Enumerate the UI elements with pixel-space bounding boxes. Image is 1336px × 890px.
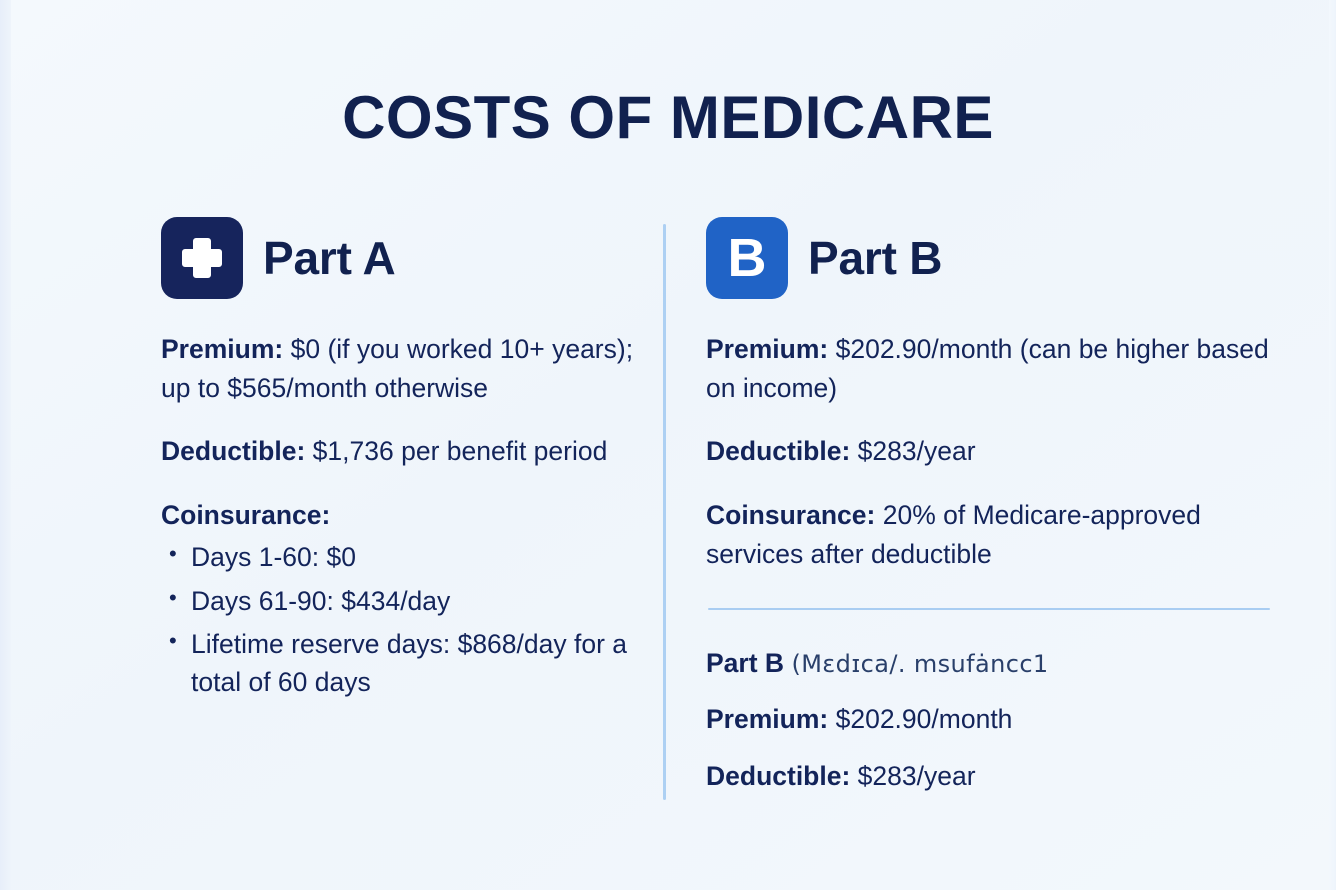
list-item: Days 1-60: $0 <box>161 539 639 577</box>
part-b-sub-deductible-label: Deductible: <box>706 761 850 791</box>
part-b-badge-letter: B <box>728 231 767 285</box>
columns-container: Part A Premium: $0 (if you worked 10+ ye… <box>0 212 1336 812</box>
part-b-sub-title-label: Part B <box>706 648 784 678</box>
part-b-column: B Part B Premium: $202.90/month (can be … <box>706 212 1272 813</box>
part-b-premium: Premium: $202.90/month (can be higher ba… <box>706 330 1272 408</box>
part-b-premium-label: Premium: <box>706 334 828 364</box>
horizontal-divider <box>708 608 1270 610</box>
part-a-deductible-label: Deductible: <box>161 436 305 466</box>
part-b-coinsurance-label: Coinsurance: <box>706 500 875 530</box>
part-b-sub-deductible-value: $283/year <box>858 761 976 791</box>
part-a-title: Part A <box>263 235 396 281</box>
letter-b-icon: B <box>706 217 788 299</box>
part-b-title: Part B <box>808 235 942 281</box>
list-item: Lifetime reserve days: $868/day for a to… <box>161 626 639 701</box>
part-a-coinsurance-label: Coinsurance: <box>161 500 330 530</box>
part-a-coinsurance-list: Days 1-60: $0 Days 61-90: $434/day Lifet… <box>161 539 639 702</box>
part-a-column: Part A Premium: $0 (if you worked 10+ ye… <box>161 212 639 707</box>
part-b-header: B Part B <box>706 212 1272 304</box>
part-b-sub-premium-label: Premium: <box>706 704 828 734</box>
part-a-premium-label: Premium: <box>161 334 283 364</box>
page-title: COSTS OF MEDICARE <box>0 86 1336 149</box>
part-a-deductible-value: $1,736 per benefit period <box>313 436 608 466</box>
medical-cross-icon <box>161 217 243 299</box>
part-a-coinsurance: Coinsurance: Days 1-60: $0 Days 61-90: $… <box>161 496 639 702</box>
vertical-divider <box>663 224 666 800</box>
part-a-deductible: Deductible: $1,736 per benefit period <box>161 432 639 471</box>
part-b-body: Premium: $202.90/month (can be higher ba… <box>706 330 1272 796</box>
part-a-body: Premium: $0 (if you worked 10+ years); u… <box>161 330 639 701</box>
part-b-sub-title: Part B (Mɛdɪca/. msufȧncc1 <box>706 644 1272 683</box>
part-b-deductible-label: Deductible: <box>706 436 850 466</box>
part-b-deductible: Deductible: $283/year <box>706 432 1272 471</box>
list-item: Days 61-90: $434/day <box>161 583 639 621</box>
part-b-deductible-value: $283/year <box>858 436 976 466</box>
part-b-sub-deductible: Deductible: $283/year <box>706 757 1272 796</box>
part-b-sub-block: Part B (Mɛdɪca/. msufȧncc1 Premium: $202… <box>706 644 1272 796</box>
part-a-premium: Premium: $0 (if you worked 10+ years); u… <box>161 330 639 408</box>
poster-canvas: COSTS OF MEDICARE Part A Premium: $0 (if… <box>0 0 1336 890</box>
part-b-coinsurance: Coinsurance: 20% of Medicare-approved se… <box>706 496 1272 574</box>
part-b-sub-title-suffix: (Mɛdɪca/. msufȧncc1 <box>791 650 1048 678</box>
part-b-sub-premium: Premium: $202.90/month <box>706 700 1272 739</box>
part-b-sub-premium-value: $202.90/month <box>836 704 1013 734</box>
part-a-header: Part A <box>161 212 639 304</box>
